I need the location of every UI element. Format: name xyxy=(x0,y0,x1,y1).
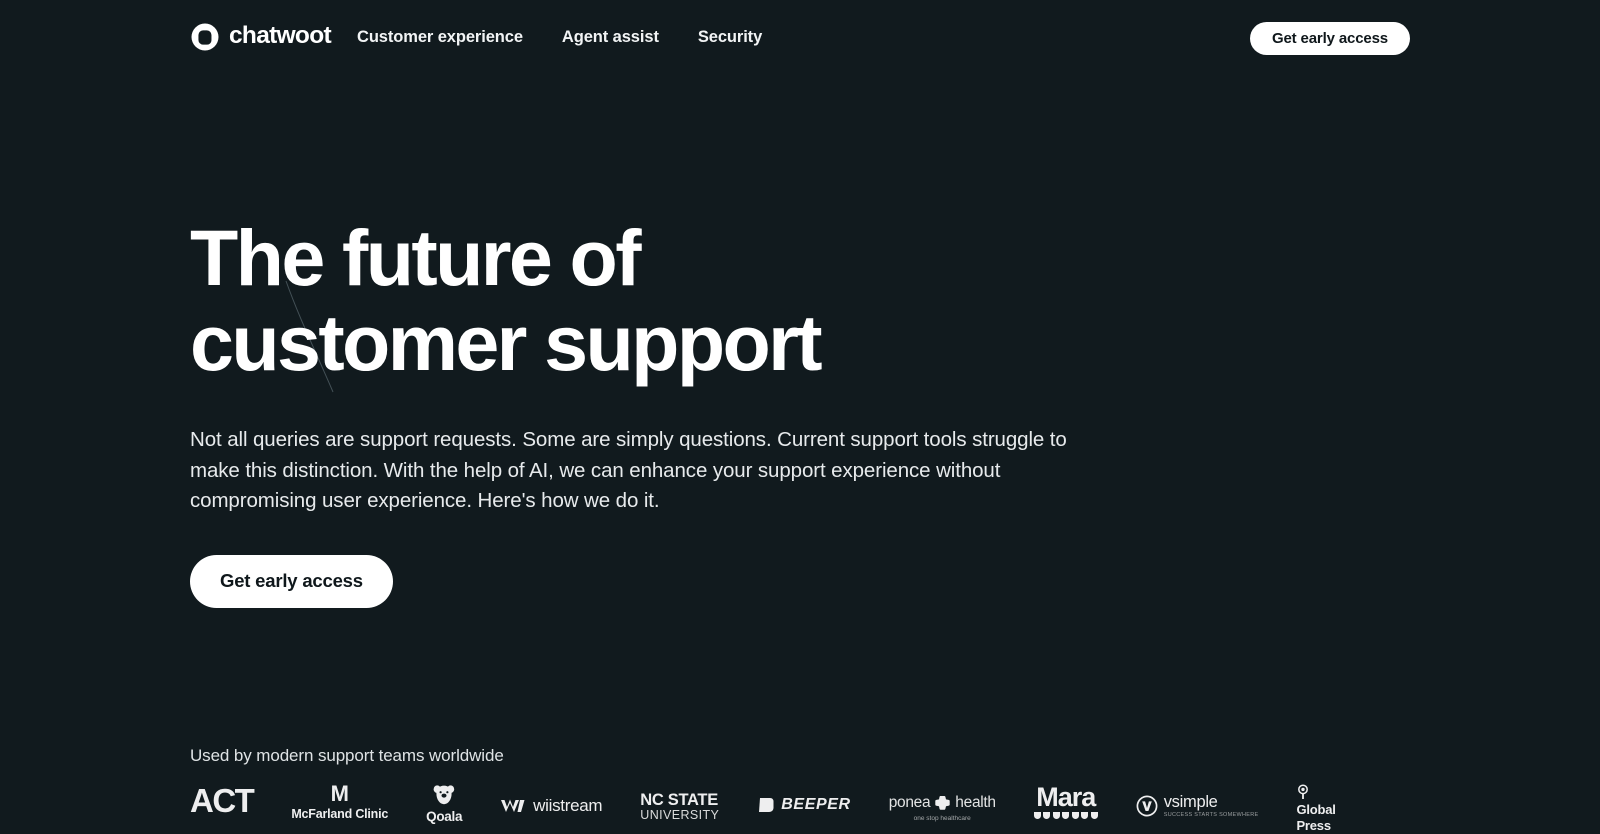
top-navigation-bar: chatwoot Customer experience Agent assis… xyxy=(0,0,1600,78)
hero-get-early-access-button[interactable]: Get early access xyxy=(190,555,393,608)
ponea-label-left: ponea xyxy=(889,794,931,812)
global-press-label-top: Global xyxy=(1296,803,1335,817)
customer-logo-qoala: Qoala xyxy=(426,784,462,824)
mara-dots-decoration xyxy=(1034,812,1098,819)
nav-link-security[interactable]: Security xyxy=(698,28,762,47)
hero-subtitle: Not all queries are support requests. So… xyxy=(190,425,1095,517)
wiistream-label: wiistream xyxy=(533,796,602,816)
mara-logo-icon: Mara xyxy=(1036,784,1095,810)
chatwoot-mark-icon xyxy=(190,22,220,52)
nav-links: Customer experience Agent assist Securit… xyxy=(357,28,762,47)
ponea-label-right: health xyxy=(955,794,995,812)
hero-section: The future of customer support Not all q… xyxy=(190,216,1190,608)
vsimple-tagline: SUCCESS STARTS SOMEWHERE xyxy=(1164,812,1259,818)
vsimple-logo-icon xyxy=(1136,795,1158,817)
brand-logo-text: chatwoot xyxy=(229,24,331,51)
global-press-label-bottom: Press xyxy=(1296,819,1330,833)
beeper-label: BEEPER xyxy=(781,796,850,814)
nav-link-customer-experience[interactable]: Customer experience xyxy=(357,28,523,47)
customer-logo-vsimple: vsimple SUCCESS STARTS SOMEWHERE xyxy=(1136,784,1259,818)
act-logo-icon: ACT xyxy=(190,784,253,817)
vsimple-wordmark: vsimple SUCCESS STARTS SOMEWHERE xyxy=(1164,794,1259,818)
qoala-koala-icon xyxy=(433,784,455,808)
social-proof-section: Used by modern support teams worldwide A… xyxy=(190,746,1490,834)
ponea-health-wordmark: ponea health xyxy=(889,794,996,812)
customer-logo-global-press: Global Press xyxy=(1296,784,1335,832)
ponea-health-cross-icon xyxy=(934,795,951,811)
mcfarland-clinic-label: McFarland Clinic xyxy=(291,807,388,821)
customer-logo-ponea-health: ponea health one stop healthcare xyxy=(889,784,996,822)
nc-state-label-top: NC STATE xyxy=(640,792,718,808)
nc-state-label-bottom: UNIVERSITY xyxy=(640,808,719,823)
qoala-label: Qoala xyxy=(426,809,462,824)
hero-title: The future of customer support xyxy=(190,216,1190,385)
customer-logo-wiistream: wiistream xyxy=(500,784,602,816)
customer-logo-mara: Mara xyxy=(1034,784,1098,819)
mcfarland-clinic-logo-icon: M xyxy=(331,784,349,804)
brand-logo[interactable]: chatwoot xyxy=(190,22,331,52)
ponea-health-tagline: one stop healthcare xyxy=(914,815,971,822)
customer-logo-act: ACT xyxy=(190,784,253,817)
wiistream-logo-icon xyxy=(500,797,526,815)
customer-logo-nc-state-university: NC STATE UNIVERSITY xyxy=(640,784,719,823)
customer-logo-beeper: BEEPER xyxy=(757,784,850,814)
social-proof-caption: Used by modern support teams worldwide xyxy=(190,746,1490,766)
global-press-bulb-icon xyxy=(1296,784,1310,801)
beeper-logo-icon xyxy=(757,796,775,814)
nav-link-agent-assist[interactable]: Agent assist xyxy=(562,28,659,47)
nav-get-early-access-button[interactable]: Get early access xyxy=(1250,22,1410,55)
customer-logo-mcfarland-clinic: M McFarland Clinic xyxy=(291,784,388,821)
customer-logo-row: ACT M McFarland Clinic Qoala xyxy=(190,784,1490,834)
vsimple-label: vsimple xyxy=(1164,794,1259,810)
